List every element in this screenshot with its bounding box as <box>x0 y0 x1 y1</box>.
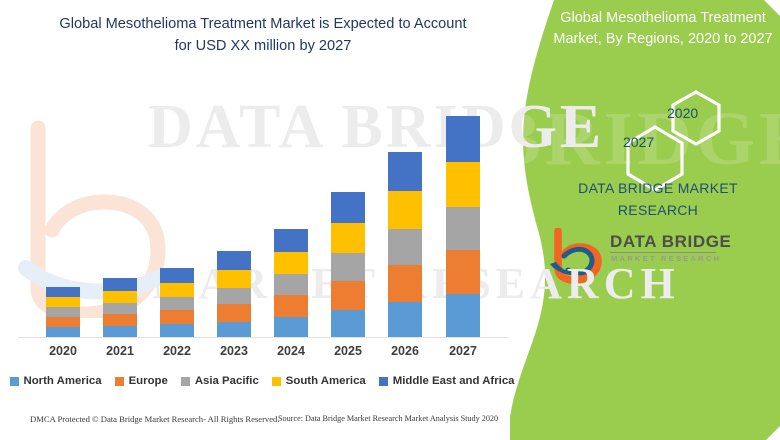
bar-segment <box>160 324 194 337</box>
legend-item[interactable]: North America <box>10 375 102 387</box>
legend-label: South America <box>286 375 366 387</box>
bar-segment <box>446 116 480 162</box>
x-axis-label-2026: 2026 <box>377 344 433 358</box>
bar-2024 <box>274 229 308 337</box>
legend-label: Europe <box>129 375 168 387</box>
panel-brand-line-1: DATA BRIDGE MARKET <box>538 178 778 200</box>
legend-swatch-icon <box>379 377 388 386</box>
bar-segment <box>46 307 80 317</box>
x-axis-label-2022: 2022 <box>149 344 205 358</box>
panel-brand-line-2: RESEARCH <box>538 200 778 222</box>
hexagon-2020-label: 2020 <box>667 105 698 121</box>
bar-segment <box>46 287 80 297</box>
legend-swatch-icon <box>181 377 190 386</box>
bar-segment <box>160 297 194 310</box>
bar-segment <box>331 223 365 253</box>
legend-label: Middle East and Africa <box>393 375 515 387</box>
bar-segment <box>46 317 80 327</box>
bar-2023 <box>217 251 251 337</box>
right-info-panel: BRIDGE Global Mesothelioma Treatment Mar… <box>510 0 780 440</box>
bar-segment <box>446 162 480 207</box>
legend-swatch-icon <box>10 377 19 386</box>
legend-item[interactable]: Middle East and Africa <box>379 375 515 387</box>
bar-segment <box>160 283 194 297</box>
bar-segment <box>446 250 480 294</box>
bar-segment <box>331 310 365 337</box>
bar-segment <box>160 268 194 283</box>
panel-brand-name: DATA BRIDGE MARKET RESEARCH <box>538 178 778 221</box>
bar-2026 <box>388 152 422 337</box>
x-axis-label-2023: 2023 <box>206 344 262 358</box>
bar-segment <box>274 252 308 274</box>
chart-region: DATA BRIDGE MARKET RESEARCH Global Mesot… <box>0 0 520 440</box>
bar-segment <box>46 297 80 307</box>
source-note: Source: Data Bridge Market Research Mark… <box>278 414 498 423</box>
bar-segment <box>46 327 80 337</box>
bar-segment <box>103 278 137 291</box>
x-axis-label-2027: 2027 <box>435 344 491 358</box>
legend-item[interactable]: Europe <box>115 375 168 387</box>
bar-segment <box>217 251 251 270</box>
bar-segment <box>388 152 422 191</box>
legend-item[interactable]: Asia Pacific <box>181 375 259 387</box>
infographic-canvas: DATA BRIDGE MARKET RESEARCH Global Mesot… <box>0 0 780 440</box>
legend-label: Asia Pacific <box>195 375 259 387</box>
logo-primary-text: DATA BRIDGE <box>610 232 732 252</box>
bar-2027 <box>446 116 480 337</box>
bar-segment <box>331 253 365 281</box>
x-axis-label-2021: 2021 <box>92 344 148 358</box>
bar-segment <box>103 314 137 326</box>
bar-segment <box>217 322 251 337</box>
bar-2025 <box>331 192 365 337</box>
legend-swatch-icon <box>115 377 124 386</box>
bar-segment <box>388 265 422 302</box>
legend-label: North America <box>24 375 102 387</box>
bar-segment <box>103 303 137 314</box>
bar-segment <box>217 270 251 288</box>
bar-segment <box>388 229 422 265</box>
bar-segment <box>274 274 308 295</box>
legend-item[interactable]: South America <box>272 375 366 387</box>
footer-notes: DMCA Protected © Data Bridge Market Rese… <box>0 414 520 436</box>
bar-segment <box>388 302 422 337</box>
x-axis-label-2020: 2020 <box>35 344 91 358</box>
bar-segment <box>388 191 422 229</box>
x-axis-tick-labels: 20202021202220232024202520262027 <box>0 344 520 364</box>
bar-segment <box>331 281 365 310</box>
x-axis-label-2025: 2025 <box>320 344 376 358</box>
bar-segment <box>446 207 480 250</box>
bar-segment <box>103 326 137 337</box>
bar-segment <box>446 294 480 337</box>
bar-segment <box>160 310 194 324</box>
bar-segment <box>217 304 251 322</box>
bar-2022 <box>160 268 194 337</box>
hexagon-2027-label: 2027 <box>623 134 654 150</box>
chart-legend: North AmericaEuropeAsia PacificSouth Ame… <box>12 372 512 390</box>
x-axis-label-2024: 2024 <box>263 344 319 358</box>
bar-segment <box>331 192 365 223</box>
bar-segment <box>217 288 251 304</box>
bar-segment <box>274 295 308 317</box>
legend-swatch-icon <box>272 377 281 386</box>
bar-segment <box>274 317 308 337</box>
logo-divider <box>610 252 716 253</box>
bar-2020 <box>46 287 80 337</box>
copyright-note: DMCA Protected © Data Bridge Market Rese… <box>30 414 280 424</box>
bar-segment <box>103 291 137 303</box>
bar-2021 <box>103 278 137 337</box>
bar-segment <box>274 229 308 252</box>
